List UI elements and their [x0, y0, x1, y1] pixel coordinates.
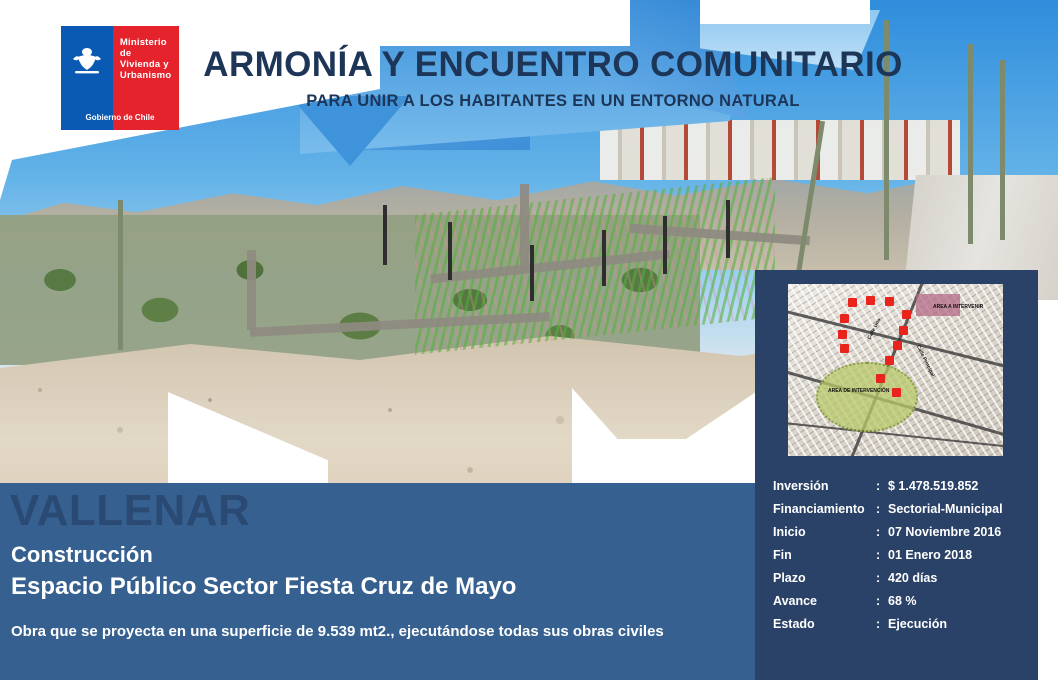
info-row-plazo: Plazo : 420 días	[773, 571, 1023, 585]
logo-minvu: Ministerio de Vivienda y Urbanismo Gobie…	[61, 26, 179, 130]
info-row-avance: Avance : 68 %	[773, 594, 1023, 608]
map-marker	[893, 341, 902, 350]
info-value: 420 días	[888, 571, 1023, 585]
map-road	[788, 309, 1003, 370]
info-row-estado: Estado : Ejecución	[773, 617, 1023, 631]
location-map-image: AREA DE INTERVENCIÓN AREA A INTERVENIR C…	[788, 284, 1003, 456]
info-separator: :	[876, 617, 888, 631]
poster-title: ARMONÍA Y ENCUENTRO COMUNITARIO	[188, 46, 918, 84]
bollard-post	[726, 200, 730, 258]
map-marker	[876, 374, 885, 383]
info-label: Financiamiento	[773, 502, 876, 516]
project-type: Construcción	[11, 542, 153, 568]
city-name: VALLENAR	[10, 487, 250, 535]
map-marker	[899, 326, 908, 335]
project-description-text: Obra que se proyecta en una superficie d…	[11, 623, 664, 640]
houses-row	[600, 120, 960, 180]
location-map-panel: AREA DE INTERVENCIÓN AREA A INTERVENIR C…	[755, 270, 1038, 466]
map-label-area-to-intervene: AREA A INTERVENIR	[933, 304, 983, 310]
info-separator: :	[876, 548, 888, 562]
proposed-path-segment	[247, 250, 256, 330]
map-label-intervention-area: AREA DE INTERVENCIÓN	[828, 388, 889, 394]
map-marker	[885, 297, 894, 306]
project-name: Espacio Público Sector Fiesta Cruz de Ma…	[11, 573, 516, 601]
project-info-panel: Inversión : $ 1.478.519.852 Financiamien…	[755, 466, 1038, 680]
info-separator: :	[876, 571, 888, 585]
map-marker	[838, 330, 847, 339]
bollard-post	[663, 216, 667, 274]
info-value: 68 %	[888, 594, 1023, 608]
logo-ministry-line3: Urbanismo	[120, 70, 179, 81]
poster-subtitle: PARA UNIR A LOS HABITANTES EN UN ENTORNO…	[188, 92, 918, 111]
map-marker	[866, 296, 875, 305]
project-poster: Ministerio de Vivienda y Urbanismo Gobie…	[0, 0, 1058, 680]
info-row-inversion: Inversión : $ 1.478.519.852	[773, 479, 1023, 493]
map-marker	[885, 356, 894, 365]
info-label: Avance	[773, 594, 876, 608]
map-marker	[848, 298, 857, 307]
project-info-rows: Inversión : $ 1.478.519.852 Financiamien…	[773, 479, 1023, 640]
info-label: Estado	[773, 617, 876, 631]
info-label: Inversión	[773, 479, 876, 493]
bollard-post	[530, 245, 534, 301]
info-label: Fin	[773, 548, 876, 562]
utility-pole	[118, 200, 123, 350]
map-intervention-area	[816, 362, 918, 432]
logo-ministry-line2: Vivienda y	[120, 59, 179, 70]
info-label: Plazo	[773, 571, 876, 585]
utility-pole	[968, 44, 973, 244]
info-separator: :	[876, 479, 888, 493]
logo-ministry-line1: Ministerio de	[120, 37, 179, 59]
bollard-post	[448, 222, 452, 280]
map-marker	[840, 314, 849, 323]
map-label-street-vertical: Calle Uno	[866, 317, 882, 340]
info-separator: :	[876, 525, 888, 539]
info-separator: :	[876, 502, 888, 516]
info-value: 01 Enero 2018	[888, 548, 1023, 562]
bollard-post	[602, 230, 606, 286]
info-value: $ 1.478.519.852	[888, 479, 1023, 493]
coat-of-arms-icon	[70, 46, 104, 76]
logo-government-text: Gobierno de Chile	[61, 113, 179, 122]
info-separator: :	[876, 594, 888, 608]
project-description: Obra que se proyecta en una superficie d…	[11, 620, 746, 644]
proposed-path-segment	[520, 184, 529, 270]
info-row-fin: Fin : 01 Enero 2018	[773, 548, 1023, 562]
collage-cut-topright	[700, 0, 870, 24]
collage-cut-topmiddle	[330, 0, 630, 46]
info-row-inicio: Inicio : 07 Noviembre 2016	[773, 525, 1023, 539]
map-marker	[902, 310, 911, 319]
logo-ministry-text: Ministerio de Vivienda y Urbanismo	[120, 37, 179, 81]
info-value: Ejecución	[888, 617, 1023, 631]
info-value: 07 Noviembre 2016	[888, 525, 1023, 539]
map-marker	[840, 344, 849, 353]
utility-pole	[1000, 60, 1005, 240]
bollard-post	[383, 205, 387, 265]
info-row-financiamiento: Financiamiento : Sectorial-Municipal	[773, 502, 1023, 516]
info-label: Inicio	[773, 525, 876, 539]
info-value: Sectorial-Municipal	[888, 502, 1023, 516]
map-marker	[892, 388, 901, 397]
